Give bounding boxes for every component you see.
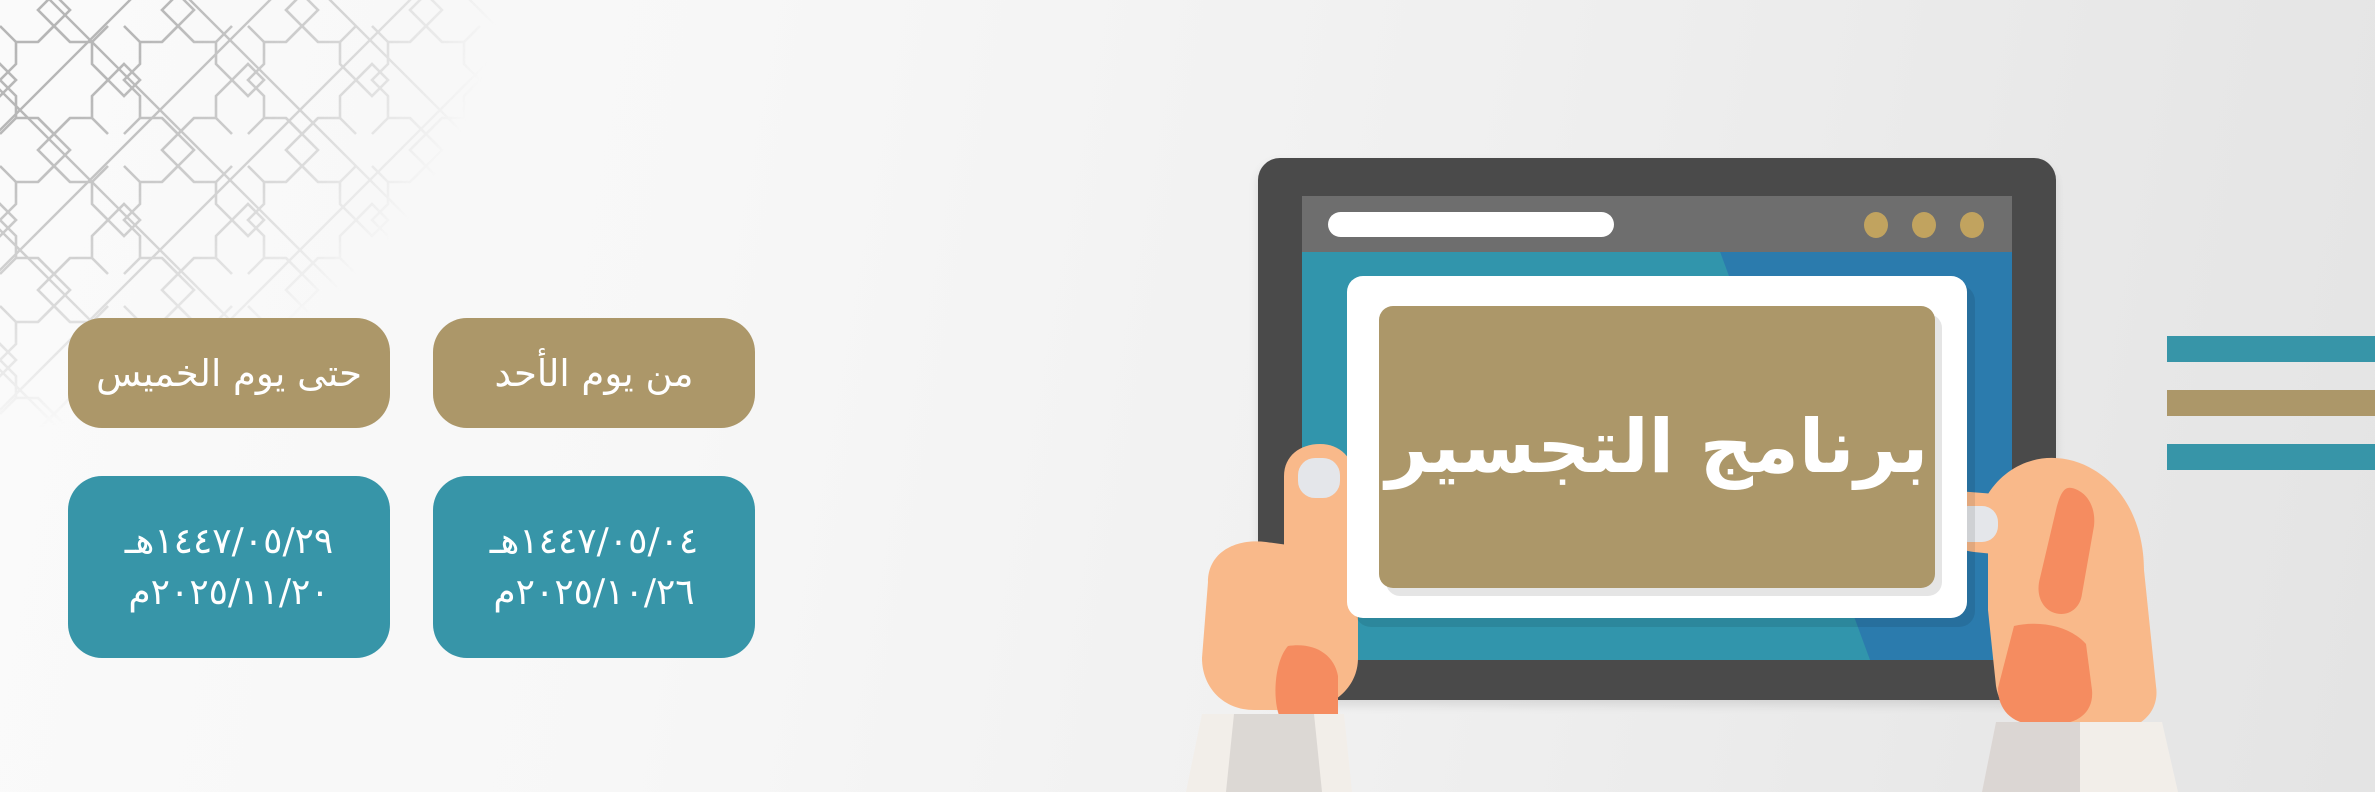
hand-gripping-illustration (1930, 430, 2260, 792)
badge-title-until: حتى يوم الخميس (68, 318, 390, 428)
edge-accent-bar-3 (2167, 444, 2375, 470)
screen-content-panel: برنامج التجسير (1379, 306, 1935, 588)
badge-gregorian-date-until: ٢٠٢٥/١١/٢٠م (128, 567, 329, 618)
badge-hijri-date-until: ١٤٤٧/٠٥/٢٩هـ (125, 516, 333, 567)
browser-dot-icon-2 (1912, 212, 1936, 238)
badge-hijri-date-from: ١٤٤٧/٠٥/٠٤هـ (490, 516, 698, 567)
edge-accent-bar-2 (2167, 390, 2375, 416)
badge-date-from: ١٤٤٧/٠٥/٠٤هـ ٢٠٢٥/١٠/٢٦م (433, 476, 755, 658)
tablet-screen: برنامج التجسير (1302, 196, 2012, 660)
badge-group-until: حتى يوم الخميس ١٤٤٧/٠٥/٢٩هـ ٢٠٢٥/١١/٢٠م (68, 318, 390, 658)
badge-gregorian-date-from: ٢٠٢٥/١٠/٢٦م (493, 567, 694, 618)
badge-group-from: من يوم الأحد ١٤٤٧/٠٥/٠٤هـ ٢٠٢٥/١٠/٢٦م (433, 318, 755, 658)
browser-dot-icon-3 (1864, 212, 1888, 238)
screen-white-card: برنامج التجسير (1347, 276, 1967, 618)
browser-dot-icon-1 (1960, 212, 1984, 238)
banner-root: من يوم الأحد ١٤٤٧/٠٥/٠٤هـ ٢٠٢٥/١٠/٢٦م حت… (0, 0, 2375, 792)
badge-date-until: ١٤٤٧/٠٥/٢٩هـ ٢٠٢٥/١١/٢٠م (68, 476, 390, 658)
browser-url-bar (1328, 212, 1614, 237)
badge-title-from: من يوم الأحد (433, 318, 755, 428)
browser-toolbar (1302, 196, 2012, 252)
edge-accent-bar-1 (2167, 336, 2375, 362)
program-title: برنامج التجسير (1386, 404, 1929, 490)
